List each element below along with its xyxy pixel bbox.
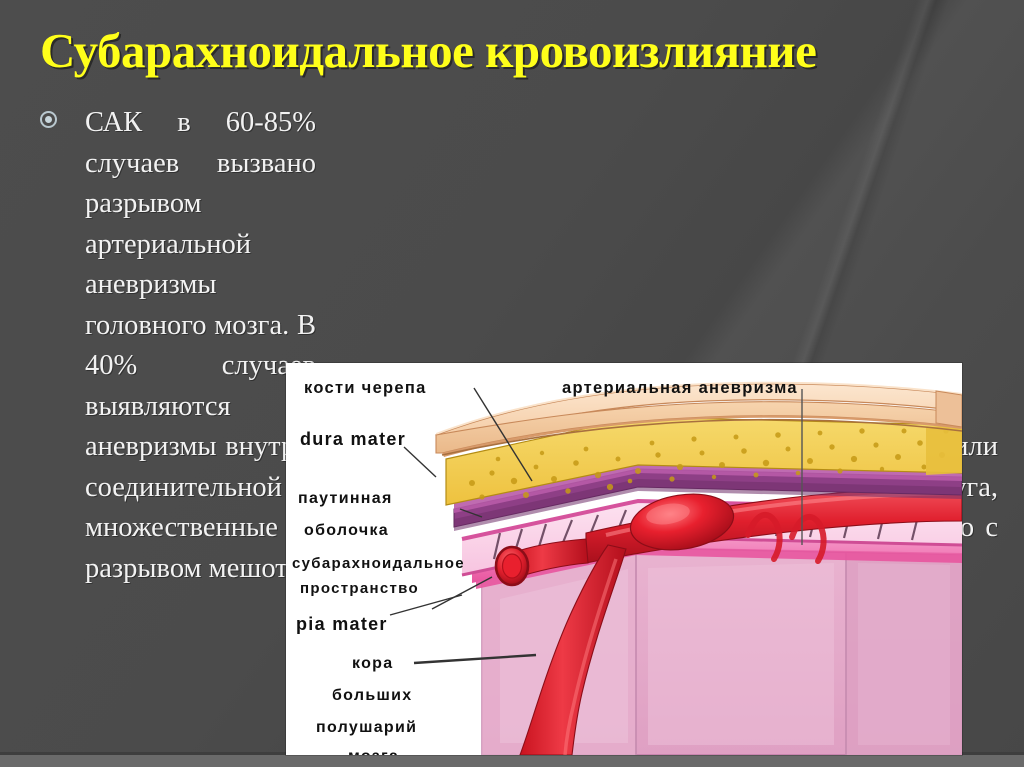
label-cortex-line2: больших xyxy=(332,687,412,704)
background-bottom-band xyxy=(0,755,1024,767)
label-skull-bones: кости черепа xyxy=(304,379,427,397)
page-title: Субарахноидальное кровоизлияние xyxy=(40,26,1000,75)
diagram-text-wrap-spacer xyxy=(316,103,998,393)
label-pia-mater: pia mater xyxy=(296,614,388,634)
label-cortex-line1: кора xyxy=(352,655,393,672)
label-arachnoid-line1: паутинная xyxy=(298,490,393,507)
slide: Субарахноидальное кровоизлияние САК в 60… xyxy=(0,0,1024,767)
label-arterial-aneurysm: артериальная аневризма xyxy=(562,379,798,397)
subarachnoid-hemorrhage-anatomy-diagram: кости черепа артериальная аневризма dura… xyxy=(286,363,962,755)
label-dura-mater: dura mater xyxy=(300,429,406,449)
label-subarachnoid-line1: субарахноидальное xyxy=(292,555,465,572)
label-subarachnoid-line2: пространство xyxy=(300,580,419,597)
target-bullet-icon xyxy=(40,111,57,128)
label-cortex-line4: мозга xyxy=(348,748,399,755)
label-arachnoid-line2: оболочка xyxy=(304,522,389,539)
label-cortex-line3: полушарий xyxy=(316,719,417,736)
